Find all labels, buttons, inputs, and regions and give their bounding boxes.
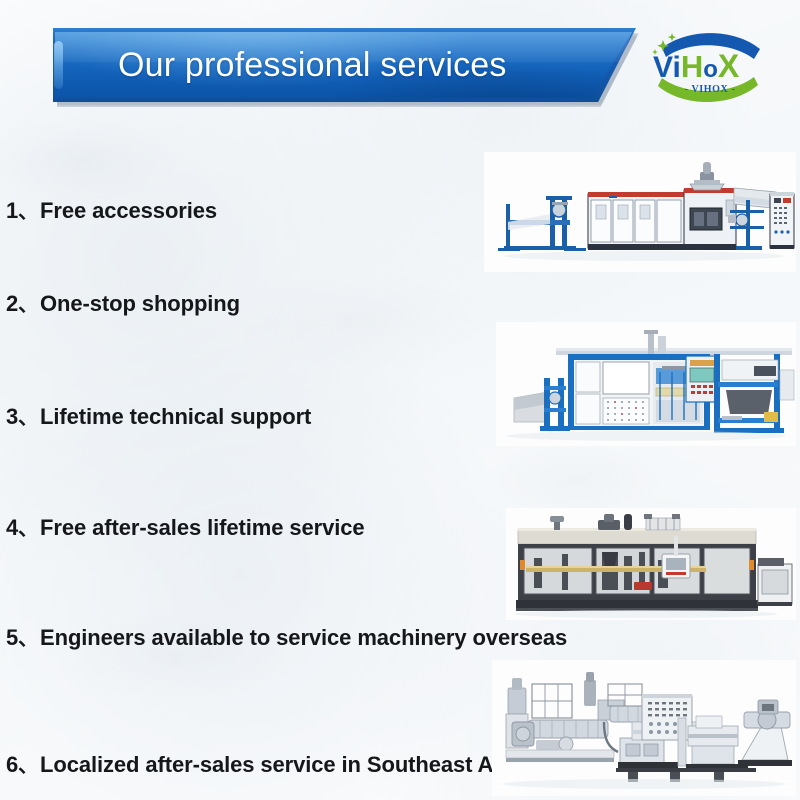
company-logo: ViHoX - VIHOX - bbox=[642, 22, 778, 114]
list-item-separator: 、 bbox=[18, 401, 38, 430]
list-item-number: 4 bbox=[6, 515, 18, 541]
list-item-label: Free accessories bbox=[40, 198, 217, 224]
list-item-separator: 、 bbox=[18, 749, 38, 778]
machine-base-icon bbox=[516, 600, 758, 608]
list-item-label: Engineers available to service machinery… bbox=[40, 625, 567, 651]
machine-indicator-right-icon bbox=[749, 560, 754, 570]
list-item: 1 、 Free accessories bbox=[6, 195, 217, 224]
logo-wordmark-icon: ViHoX bbox=[653, 48, 740, 84]
list-item-number: 1 bbox=[6, 198, 18, 224]
list-item-number: 5 bbox=[6, 625, 18, 651]
list-item-label: Free after-sales lifetime service bbox=[40, 515, 364, 541]
list-item: 5 、 Engineers available to service machi… bbox=[6, 622, 567, 651]
list-item: 6 、 Localized after-sales service in Sou… bbox=[6, 749, 524, 778]
list-item-label: Lifetime technical support bbox=[40, 404, 311, 430]
slide-canvas: Our professional services ViHoX bbox=[0, 0, 800, 800]
banner-left-accent-bar bbox=[54, 41, 63, 89]
page-title: Our professional services bbox=[118, 28, 588, 102]
machine-hmi-panel-icon bbox=[686, 356, 718, 402]
machine-main-body-icon bbox=[588, 192, 684, 250]
list-item-label: Localized after-sales service in Southea… bbox=[40, 752, 524, 778]
list-item-number: 2 bbox=[6, 291, 18, 317]
machine-floor-rail-icon bbox=[616, 768, 756, 772]
list-item: 2 、 One-stop shopping bbox=[6, 288, 240, 317]
list-item-separator: 、 bbox=[18, 195, 38, 224]
machine-red-component-icon bbox=[634, 582, 652, 590]
list-item: 3 、 Lifetime technical support bbox=[6, 401, 311, 430]
product-photo-vacuum-forming-machine bbox=[496, 322, 796, 446]
product-photo-extrusion-line bbox=[492, 660, 796, 796]
title-banner: Our professional services bbox=[44, 28, 636, 104]
list-item-number: 6 bbox=[6, 752, 18, 778]
list-item-separator: 、 bbox=[18, 512, 38, 541]
list-item-label: One-stop shopping bbox=[40, 291, 240, 317]
machine-roof-icon bbox=[518, 530, 756, 544]
machine-indicator-left-icon bbox=[520, 560, 525, 570]
machine-tail-unit-icon bbox=[780, 370, 794, 400]
machine-output-unit-icon bbox=[758, 558, 792, 606]
logo-subtext: - VIHOX - bbox=[685, 84, 736, 95]
list-item-number: 3 bbox=[6, 404, 18, 430]
list-item: 4 、 Free after-sales lifetime service bbox=[6, 512, 365, 541]
product-photo-enclosed-thermoformer bbox=[506, 508, 796, 620]
list-item-separator: 、 bbox=[18, 288, 38, 317]
list-item-separator: 、 bbox=[18, 622, 38, 651]
header: Our professional services ViHoX bbox=[0, 0, 800, 128]
machine-control-cabinet-icon bbox=[770, 192, 794, 249]
product-photo-thermoforming-line bbox=[484, 152, 796, 272]
